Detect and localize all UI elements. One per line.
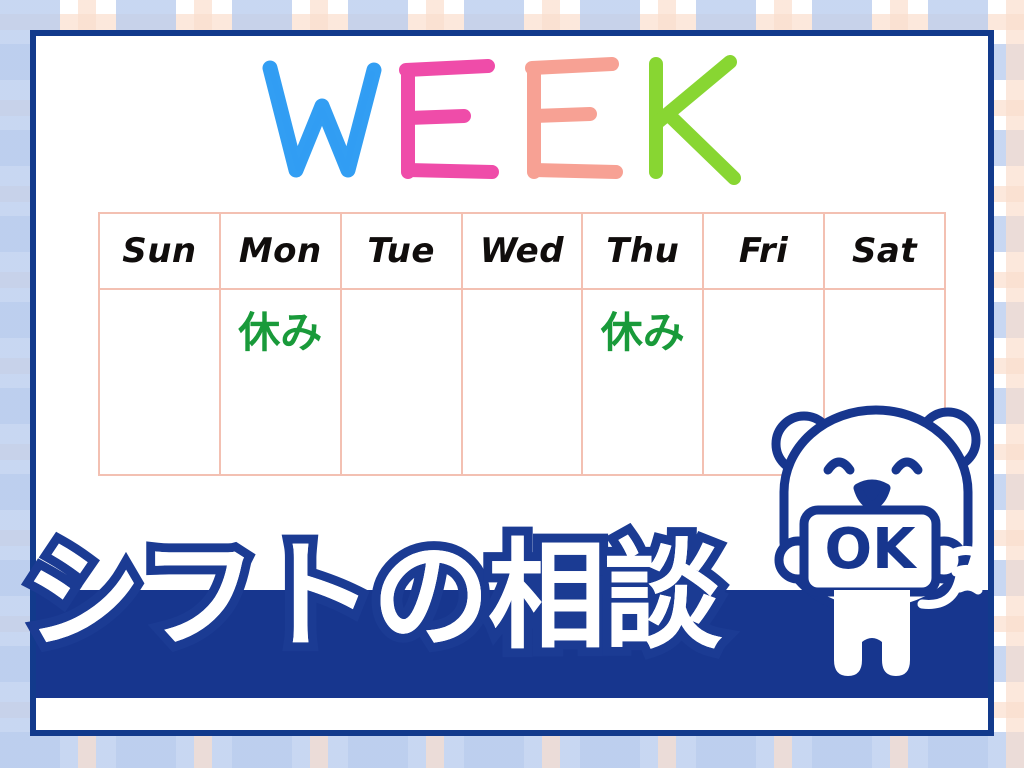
calendar-header-tue: Tue (341, 213, 462, 289)
week-letter-e2 (532, 64, 616, 172)
calendar-cell-mon[interactable]: 休み (220, 289, 341, 475)
calendar-header-fri: Fri (703, 213, 824, 289)
calendar-header-sat: Sat (824, 213, 945, 289)
calendar-entry-mon: 休み (221, 312, 340, 354)
week-title (252, 50, 752, 190)
calendar-header-mon: Mon (220, 213, 341, 289)
week-letter-k (656, 62, 734, 178)
calendar-header-thu: Thu (582, 213, 703, 289)
calendar-cell-sun[interactable] (99, 289, 220, 475)
mascot-ok-text: OK (825, 517, 919, 582)
headline-text: シフトの相談 (24, 521, 844, 671)
calendar-header-sun: Sun (99, 213, 220, 289)
calendar-cell-tue[interactable] (341, 289, 462, 475)
calendar-entry-thu: 休み (583, 312, 702, 354)
mascot-ok-sign: OK (804, 510, 936, 592)
calendar-cell-wed[interactable] (462, 289, 583, 475)
mascot-body-icon (834, 590, 910, 676)
week-letter-e1 (406, 66, 492, 172)
calendar-cell-thu[interactable]: 休み (582, 289, 703, 475)
calendar-header-wed: Wed (462, 213, 583, 289)
bear-mascot-svg: OK (762, 392, 1000, 692)
banner-white-strip (36, 698, 988, 730)
week-title-svg (252, 50, 752, 190)
bear-mascot: OK (762, 392, 1000, 692)
calendar-header-row: Sun Mon Tue Wed Thu Fri Sat (99, 213, 945, 289)
week-letter-w (270, 68, 374, 170)
